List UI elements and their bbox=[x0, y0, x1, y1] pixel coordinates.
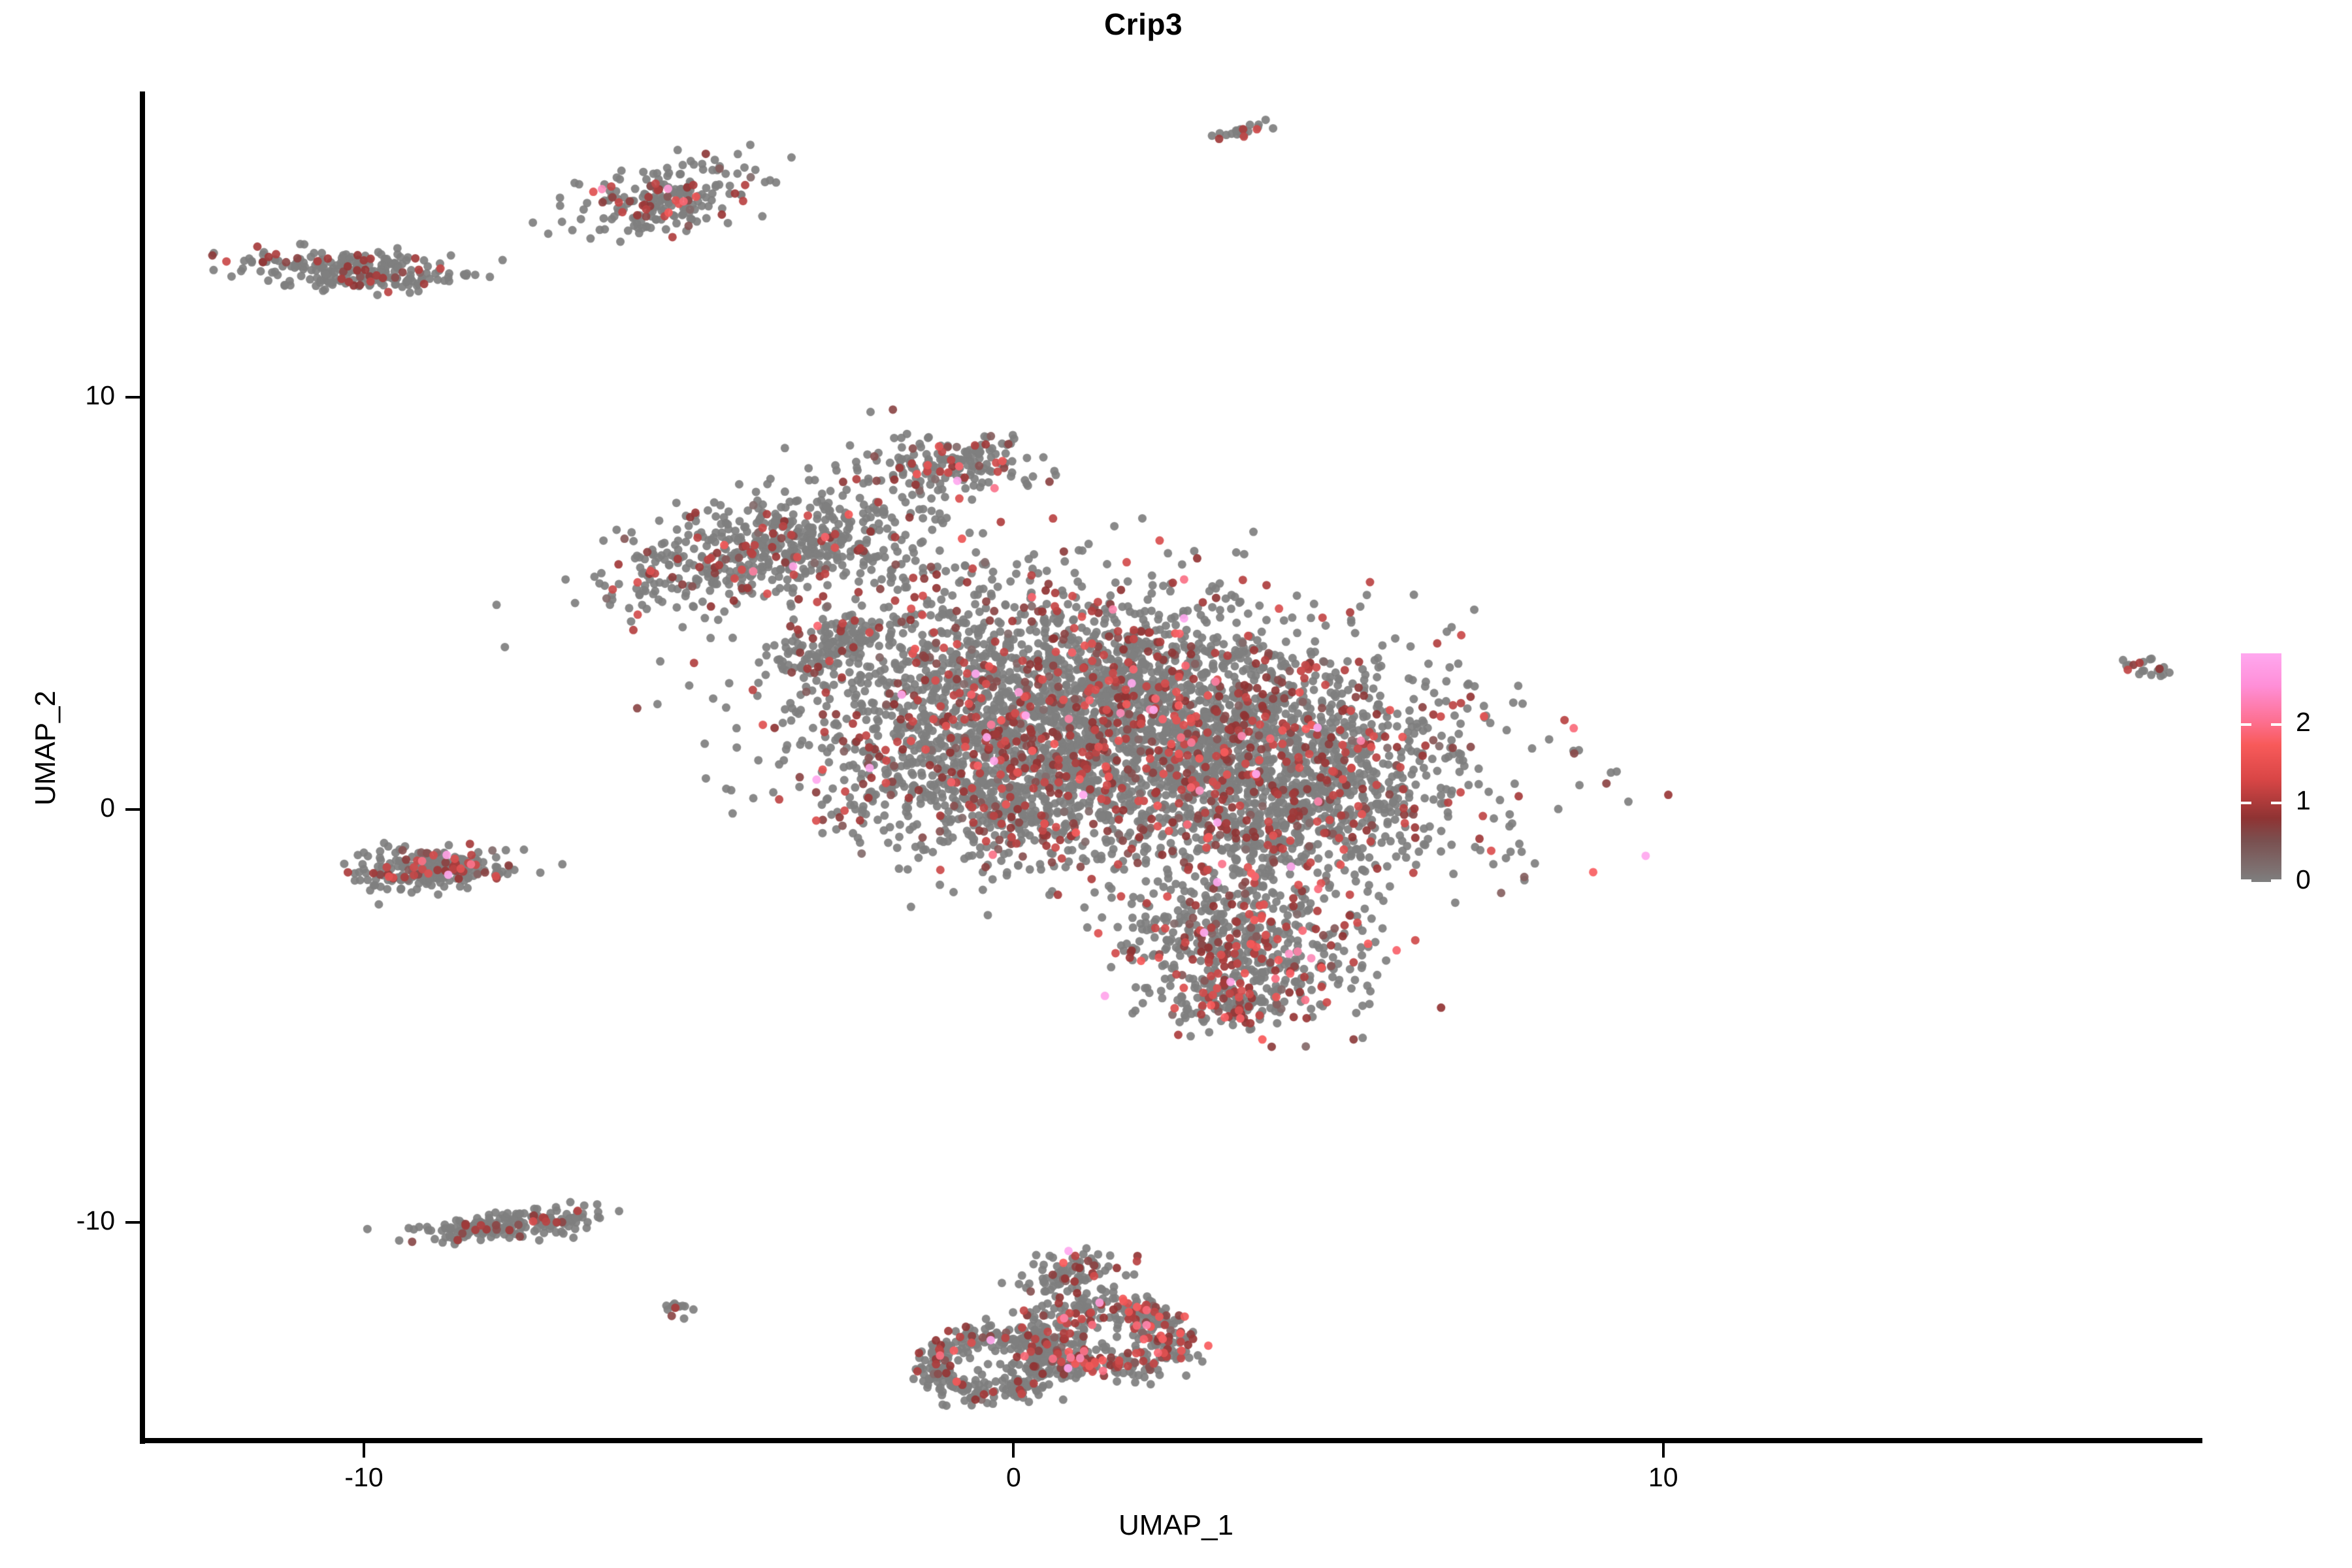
legend-tick-mark bbox=[2271, 879, 2281, 882]
legend-tick-label: 1 bbox=[2296, 787, 2311, 814]
umap-scatter-canvas bbox=[143, 91, 2202, 1441]
legend-tick-label: 0 bbox=[2296, 866, 2311, 893]
plot-root: Crip3 -10010 100-10 UMAP_1 UMAP_2 210 bbox=[0, 0, 2352, 1568]
y-axis-line bbox=[140, 91, 145, 1444]
plot-panel bbox=[143, 91, 2202, 1441]
x-tick-label: -10 bbox=[299, 1462, 429, 1493]
x-tick-label: 10 bbox=[1598, 1462, 1729, 1493]
x-axis-line bbox=[140, 1438, 2202, 1443]
legend-tick-mark bbox=[2271, 802, 2281, 804]
color-legend: 210 bbox=[2241, 653, 2345, 902]
x-axis-title: UMAP_1 bbox=[934, 1509, 1418, 1542]
legend-tick-mark bbox=[2271, 723, 2281, 726]
y-tick-mark bbox=[125, 1221, 140, 1224]
page-title: Crip3 bbox=[0, 7, 2319, 42]
y-tick-mark bbox=[125, 808, 140, 811]
legend-tick-mark bbox=[2241, 802, 2251, 804]
y-tick-mark bbox=[125, 396, 140, 399]
y-axis-title: UMAP_2 bbox=[29, 552, 62, 944]
y-tick-label: -10 bbox=[0, 1205, 115, 1236]
x-tick-mark bbox=[1012, 1443, 1015, 1458]
y-tick-label: 10 bbox=[0, 380, 115, 411]
x-tick-mark bbox=[1662, 1443, 1665, 1458]
legend-colorbar bbox=[2241, 653, 2281, 882]
legend-tick-label: 2 bbox=[2296, 709, 2311, 736]
x-tick-label: 0 bbox=[948, 1462, 1079, 1493]
legend-tick-mark bbox=[2241, 723, 2251, 726]
legend-tick-mark bbox=[2241, 879, 2251, 882]
x-tick-mark bbox=[363, 1443, 365, 1458]
